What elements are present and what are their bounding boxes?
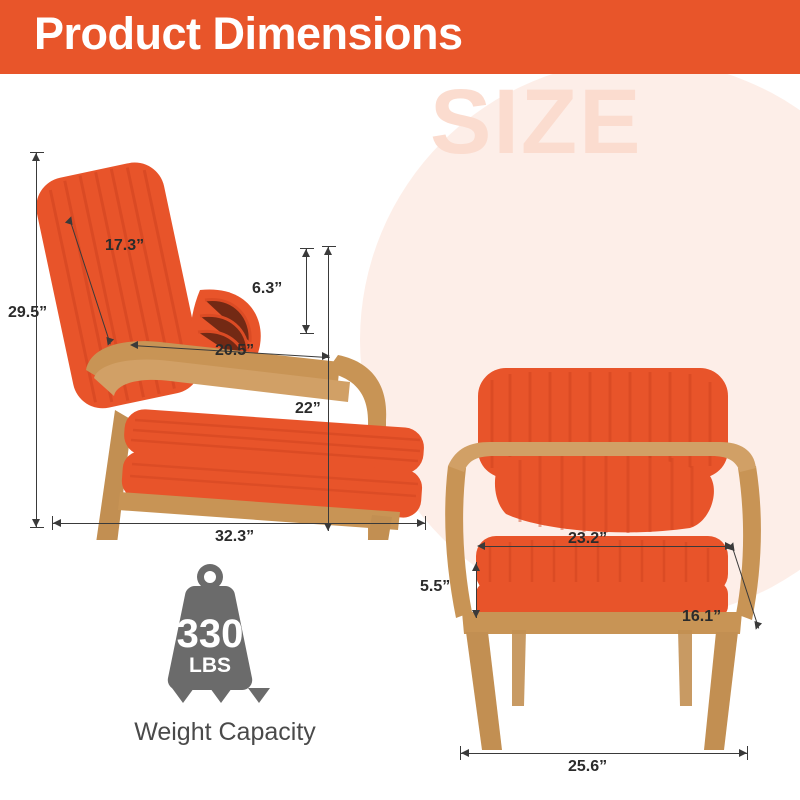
product-dimensions-infographic: SIZE Product Dimensions <box>0 0 800 800</box>
weight-capacity-caption: Weight Capacity <box>100 718 350 747</box>
weight-arrow-2 <box>210 688 232 703</box>
overall-width-line <box>460 753 748 754</box>
seat-thickness-line <box>306 248 307 334</box>
front-view-chair: 23.2” 5.5” 16.1” 25.6” <box>420 350 800 790</box>
weight-capacity-number: 330 <box>110 612 310 657</box>
seat-depth-arrow-left <box>130 341 138 349</box>
overall-height-arrow-bottom <box>32 519 40 527</box>
seat-thickness-arrow-top <box>302 249 310 257</box>
dim-seat-cushion-thickness: 6.3” <box>252 280 282 298</box>
dim-inner-seat-width: 23.2” <box>568 530 607 548</box>
weight-arrow-3 <box>248 688 270 703</box>
overall-height-tick-bottom <box>30 527 44 528</box>
dim-overall-depth: 32.3” <box>215 528 254 546</box>
seat-thickness-tick-bottom <box>300 333 314 334</box>
weight-arrow-1 <box>172 688 194 703</box>
overall-width-tick-right <box>747 746 748 760</box>
armrest-height-arrow-top <box>324 247 332 255</box>
inner-seat-width-arrow-left <box>477 542 485 550</box>
dim-armrest-height: 22” <box>295 400 321 418</box>
seat-thickness-arrow-bottom <box>302 325 310 333</box>
seat-height-arrow-bottom <box>472 610 480 618</box>
dim-seat-depth: 20.5” <box>215 342 254 360</box>
overall-width-arrow-right <box>739 749 747 757</box>
overall-width-arrow-left <box>461 749 469 757</box>
dim-backrest-width: 17.3” <box>105 237 144 255</box>
weight-capacity-block: 330 LBS Weight Capacity <box>110 560 380 760</box>
overall-depth-line <box>52 523 426 524</box>
dim-overall-width: 25.6” <box>568 758 607 776</box>
page-title: Product Dimensions <box>34 8 463 60</box>
side-view-chair: 29.5” 17.3” 6.3” 20.5” 22” 32.3” <box>20 120 470 540</box>
side-view-chair-illustration <box>20 120 470 540</box>
armrest-height-line <box>328 246 329 531</box>
overall-depth-arrow-left <box>53 519 61 527</box>
overall-height-arrow-top <box>32 153 40 161</box>
weight-capacity-unit: LBS <box>110 654 310 678</box>
dim-overall-height: 29.5” <box>8 304 47 322</box>
seat-height-arrow-top <box>472 563 480 571</box>
overall-height-line <box>36 152 37 528</box>
header-bar: Product Dimensions <box>0 0 800 74</box>
dim-seat-height: 5.5” <box>420 578 450 596</box>
dim-seat-side-depth: 16.1” <box>682 608 721 626</box>
